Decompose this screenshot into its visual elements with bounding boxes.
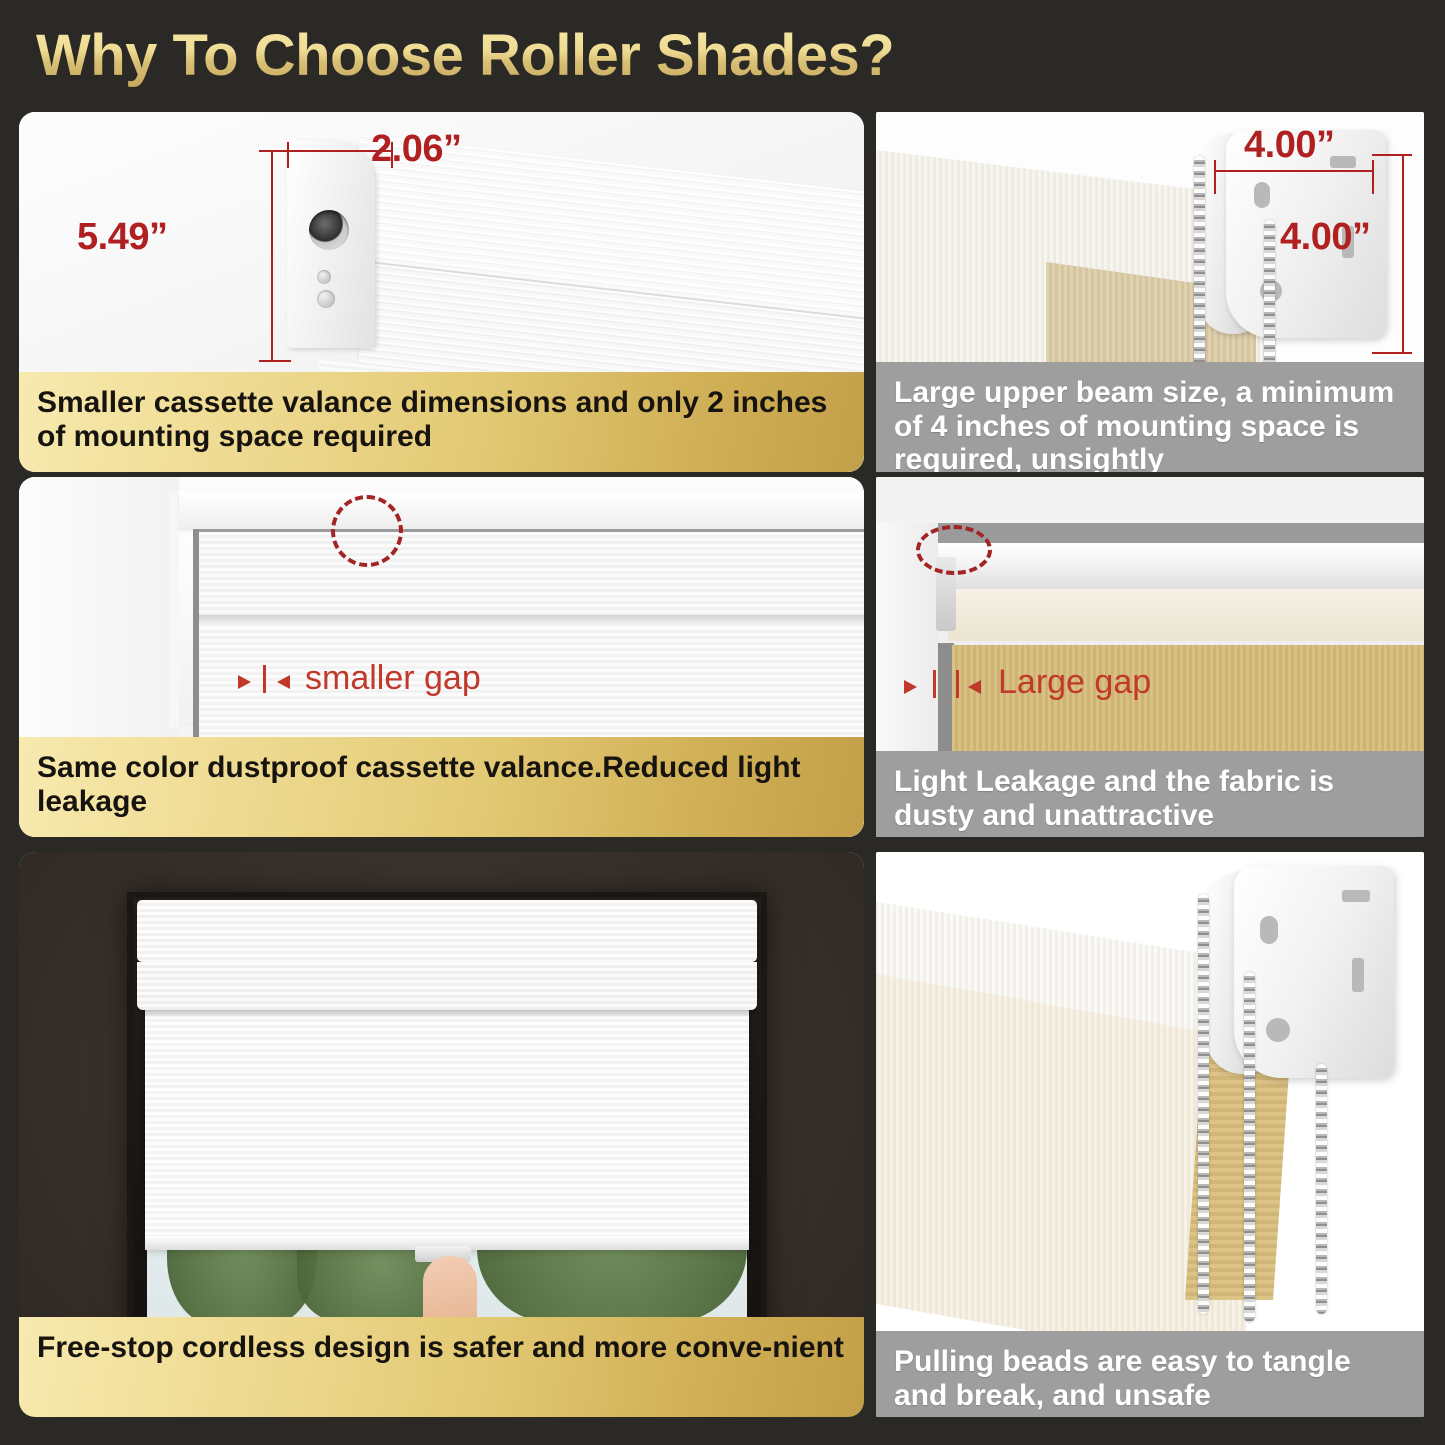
beam-height-tick-top: [1372, 154, 1412, 156]
panel-row-1: 2.06” 5.49” Smaller cassette valance dim…: [0, 112, 1445, 477]
panel-cassette-valance-dimensions: 2.06” 5.49” Smaller cassette valance dim…: [19, 112, 864, 472]
height-dimension-line: [271, 150, 273, 362]
caption-bar-dustproof-cassette-valance: Same color dustproof cassette valance.Re…: [19, 737, 864, 837]
end-cap-screw: [317, 270, 331, 284]
panel-free-stop-cordless-design: Free-stop cordless design is safer and m…: [19, 852, 864, 1417]
valance-end-cap: [287, 140, 375, 348]
gap-marker-bar: [263, 665, 266, 693]
panel-large-upper-beam: 4.00” 4.00” Large upper beam size, a min…: [876, 112, 1424, 472]
panel-grid: 2.06” 5.49” Smaller cassette valance dim…: [0, 112, 1445, 1432]
shade-fabric: [145, 1010, 749, 1244]
panel-row-2: smaller gap Same color dustproof cassett…: [0, 477, 1445, 852]
panel-pulling-beads-unsafe: Pulling beads are easy to tangle and bre…: [876, 852, 1424, 1417]
panel-dustproof-cassette-valance: smaller gap Same color dustproof cassett…: [19, 477, 864, 837]
cassette-valance-lower: [137, 962, 757, 1010]
wall-upper: [876, 477, 1424, 523]
beam-width-dimension-line: [1214, 170, 1374, 172]
cassette-lip: [199, 615, 864, 627]
beam-width-tick-left: [1214, 160, 1216, 194]
large-gap-label: Large gap: [998, 663, 1151, 702]
gap-arrow-right: [277, 675, 290, 689]
mounting-bracket: [1234, 866, 1394, 1078]
roller-tube: [938, 543, 1424, 595]
dustproof-highlight-circle: [331, 495, 403, 567]
caption-bar-cassette-valance-dimensions: Smaller cassette valance dimensions and …: [19, 372, 864, 472]
bead-chain-right: [1316, 1064, 1327, 1314]
cassette-valance: [199, 529, 864, 615]
gap-arrow-left: [904, 680, 917, 694]
caption-bar-light-leakage: Light Leakage and the fabric is dusty an…: [876, 751, 1424, 837]
gap-arrow-left: [238, 675, 251, 689]
gap-highlight-circle: [916, 525, 992, 575]
beam-width-label: 4.00”: [1244, 124, 1334, 167]
height-dimension-tick-top: [259, 150, 291, 152]
caption-bar-pulling-beads-unsafe: Pulling beads are easy to tangle and bre…: [876, 1331, 1424, 1417]
gap-marker-bar-1: [933, 670, 936, 698]
cream-fabric-band: [948, 589, 1424, 641]
gap-marker-bar-2: [956, 670, 959, 698]
beam-height-dimension-line: [1402, 154, 1404, 354]
height-dimension-label: 5.49”: [77, 216, 167, 259]
page-title: Why To Choose Roller Shades?: [36, 22, 894, 89]
height-dimension-tick-bottom: [259, 360, 291, 362]
cassette-valance-top: [137, 900, 757, 962]
caption-bar-large-upper-beam: Large upper beam size, a minimum of 4 in…: [876, 362, 1424, 472]
smaller-gap-label: smaller gap: [305, 659, 481, 698]
bead-chain-middle: [1244, 972, 1255, 1322]
shade-fabric-cream: [876, 972, 1246, 1369]
caption-bar-free-stop-cordless-design: Free-stop cordless design is safer and m…: [19, 1317, 864, 1417]
bead-chain-left: [1198, 894, 1209, 1314]
infographic-page: Why To Choose Roller Shades?: [0, 0, 1445, 1445]
beam-height-tick-bottom: [1372, 352, 1412, 354]
beam-width-tick-right: [1372, 160, 1374, 194]
width-dimension-tick-left: [287, 142, 289, 168]
gap-arrow-right: [968, 680, 981, 694]
beam-height-label: 4.00”: [1280, 216, 1370, 259]
panel-row-3: Free-stop cordless design is safer and m…: [0, 852, 1445, 1432]
width-dimension-label: 2.06”: [371, 128, 461, 171]
panel-light-leakage: Large gap Light Leakage and the fabric i…: [876, 477, 1424, 837]
